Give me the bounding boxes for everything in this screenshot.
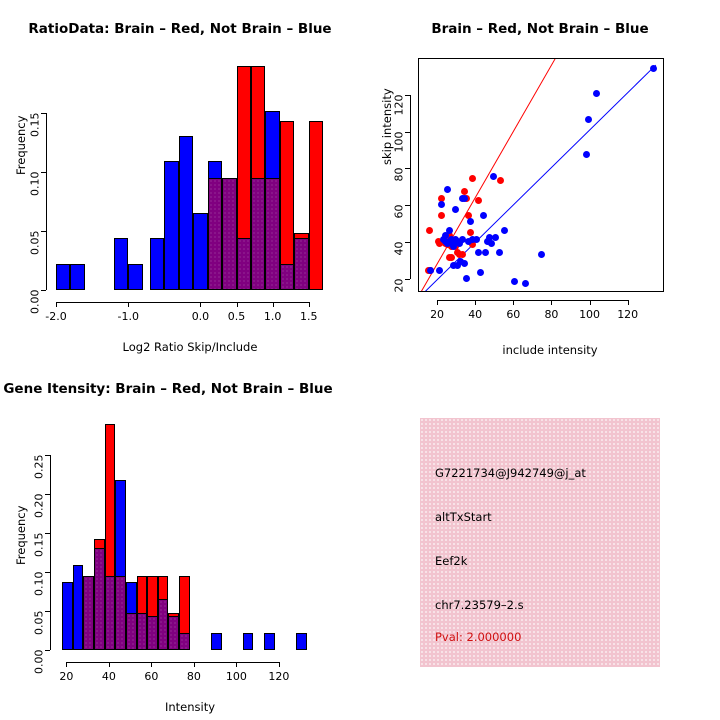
scatter-point-blue-28 [473,236,480,243]
scatter-point-blue-8 [446,227,453,234]
ratio-histogram-bar-3-blue [128,264,142,290]
gene-histogram-bar-1-blue [73,565,84,650]
y-tick-label-1: 0.05 [29,231,42,275]
x-tick-3 [551,300,552,305]
x-tick-label-5: 120 [606,308,650,321]
scatter-point-blue-23 [461,260,468,267]
x-tick-4 [273,302,274,307]
gene-histogram-bar-3-overlap [94,548,105,650]
gene-histogram-title: Gene Itensity: Brain – Red, Not Brain – … [0,381,348,397]
y-tick-1 [45,611,50,612]
y-tick-5 [405,95,410,96]
figure-canvas: RatioData: Brain – Red, Not Brain – Blue… [0,0,720,720]
y-tick-0 [41,290,46,291]
ratio-histogram-bar-8-overlap [208,178,222,290]
panel-ratio-histogram: RatioData: Brain – Red, Not Brain – Blue… [0,0,360,360]
x-tick-label-1: -1.0 [106,310,150,323]
ratio-histogram-bar-15-red [309,121,323,290]
scatter-point-blue-42 [538,251,545,258]
gene-histogram-bar-14-blue [264,633,275,650]
y-tick-label-5: 120 [393,94,406,138]
y-axis-line [410,95,411,279]
scatter-point-red-24 [475,197,482,204]
info-gene-symbol: Eef2k [435,554,467,568]
y-tick-3 [45,533,50,534]
y-tick-5 [45,455,50,456]
gene-histogram-bar-2-overlap [83,576,94,650]
scatter-point-red-18 [461,188,468,195]
scatter-point-blue-46 [650,65,657,72]
y-tick-label-5: 0.25 [33,455,46,499]
gene-histogram-bar-11-overlap [179,633,190,650]
y-tick-1 [41,231,46,232]
ratio-histogram-bar-6-blue [179,136,193,291]
scatter-point-blue-41 [522,280,529,287]
scatter-point-blue-29 [475,249,482,256]
ratio-histogram-bar-11-overlap [251,178,265,290]
x-tick-5 [309,302,310,307]
ratio-histogram-bar-13-overlap [280,264,294,290]
gene-histogram-bar-4-overlap [105,576,116,650]
y-tick-label-2: 0.10 [33,572,46,616]
x-tick-label-1: 40 [87,670,131,683]
scatter-point-blue-40 [511,278,518,285]
ratio-histogram-bar-4-blue [150,238,164,290]
gene-histogram-bar-5-overlap [115,576,126,650]
x-tick-label-5: 1.5 [287,310,331,323]
ratio-histogram-x-axis-label: Log2 Ratio Skip/Include [55,340,325,354]
y-tick-1 [405,242,410,243]
ratio-histogram-bar-2-blue [114,238,128,290]
gene-histogram-x-axis-label: Intensity [55,700,325,714]
x-tick-5 [279,662,280,667]
x-tick-0 [66,662,67,667]
y-tick-4 [45,494,50,495]
x-tick-1 [475,300,476,305]
ratio-histogram-plot-area [56,60,316,290]
y-tick-label-3: 0.15 [29,113,42,157]
ratio-histogram-bar-9-overlap [222,178,236,290]
info-event-type: altTxStart [435,510,492,524]
ratio-histogram-bar-5-blue [164,161,178,290]
x-tick-4 [590,300,591,305]
ratio-histogram-bar-12-overlap [265,178,279,290]
scatter-point-blue-45 [593,90,600,97]
gene-histogram-bar-0-blue [62,582,73,650]
x-tick-1 [128,302,129,307]
y-tick-2 [45,572,50,573]
scatter-point-blue-39 [501,227,508,234]
y-axis-line [46,113,47,290]
ratio-histogram-bar-1-blue [70,264,84,290]
gene-histogram-bar-13-blue [243,633,254,650]
y-tick-label-0: 0.00 [29,290,42,334]
info-probe-id: G7221734@J942749@j_at [435,466,586,480]
x-tick-3 [194,662,195,667]
gene-histogram-bar-7-overlap [137,613,148,650]
y-axis-line [50,455,51,650]
scatter-point-red-22 [469,175,476,182]
scatter-title: Brain – Red, Not Brain – Blue [360,21,720,37]
y-tick-3 [41,113,46,114]
scatter-point-blue-37 [492,234,499,241]
info-panel: G7221734@J942749@j_at altTxStart Eef2k c… [420,418,660,667]
scatter-x-axis-label: include intensity [415,343,685,357]
scatter-point-red-12 [448,254,455,261]
scatter-point-blue-36 [490,173,497,180]
x-axis-line [437,300,628,301]
scatter-point-blue-32 [482,249,489,256]
scatter-plot-area [418,58,664,292]
gene-histogram-bar-8-overlap [147,616,158,650]
x-tick-3 [237,302,238,307]
scatter-point-blue-31 [480,212,487,219]
scatter-point-blue-43 [583,151,590,158]
scatter-point-red-6 [438,212,445,219]
gene-histogram-y-axis-label: Frequency [14,506,28,565]
info-coordinate: chr7.23579–2.s [435,598,524,612]
scatter-point-blue-44 [585,116,592,123]
x-tick-5 [628,300,629,305]
scatter-point-red-25 [497,177,504,184]
x-tick-2 [200,302,201,307]
y-tick-4 [405,132,410,133]
ratio-histogram-bar-7-blue [193,213,207,290]
y-tick-0 [45,650,50,651]
y-tick-label-1: 0.05 [33,611,46,655]
gene-histogram-bar-15-blue [296,633,307,650]
x-tick-label-4: 100 [214,670,258,683]
x-tick-label-2: 60 [129,670,173,683]
scatter-point-blue-6 [444,186,451,193]
scatter-point-blue-30 [477,269,484,276]
x-tick-0 [437,300,438,305]
scatter-point-red-17 [459,251,466,258]
x-tick-label-3: 80 [172,670,216,683]
ratio-histogram-bar-10-overlap [237,238,251,290]
ratio-histogram-y-axis-label: Frequency [14,116,28,175]
gene-histogram-plot-area [60,420,315,650]
scatter-point-red-2 [426,227,433,234]
y-tick-2 [41,172,46,173]
scatter-point-blue-26 [467,218,474,225]
x-tick-label-0: 20 [44,670,88,683]
scatter-point-blue-38 [496,249,503,256]
x-axis-line [56,302,309,303]
panel-scatter: Brain – Red, Not Brain – Blue skip inten… [360,0,720,360]
gene-histogram-bar-6-overlap [126,613,137,650]
scatter-point-blue-24 [463,275,470,282]
x-axis-line [66,662,279,663]
ratio-histogram-bar-14-overlap [294,238,308,290]
y-tick-0 [405,279,410,280]
ratio-histogram-bar-0-blue [56,264,70,290]
x-tick-1 [109,662,110,667]
y-tick-label-0: 0.00 [33,650,46,694]
scatter-point-blue-2 [438,201,445,208]
y-tick-label-3: 0.15 [33,533,46,577]
scatter-point-red-21 [467,229,474,236]
panel-gene-histogram: Gene Itensity: Brain – Red, Not Brain – … [0,360,360,720]
info-pval: Pval: 2.000000 [435,630,521,644]
y-tick-label-4: 0.20 [33,494,46,538]
ratio-histogram-title: RatioData: Brain – Red, Not Brain – Blue [0,21,360,37]
y-tick-2 [405,205,410,206]
x-tick-2 [513,300,514,305]
gene-histogram-bar-9-overlap [158,599,169,650]
gene-histogram-bar-10-overlap [168,616,179,650]
scatter-point-blue-15 [452,206,459,213]
scatter-brain-fit [421,59,555,291]
gene-histogram-bar-12-blue [211,633,222,650]
scatter-point-blue-0 [427,267,434,274]
y-tick-label-2: 0.10 [29,172,42,216]
x-tick-0 [56,302,57,307]
x-tick-4 [236,662,237,667]
x-tick-label-5: 120 [257,670,301,683]
y-tick-3 [405,168,410,169]
x-tick-2 [151,662,152,667]
